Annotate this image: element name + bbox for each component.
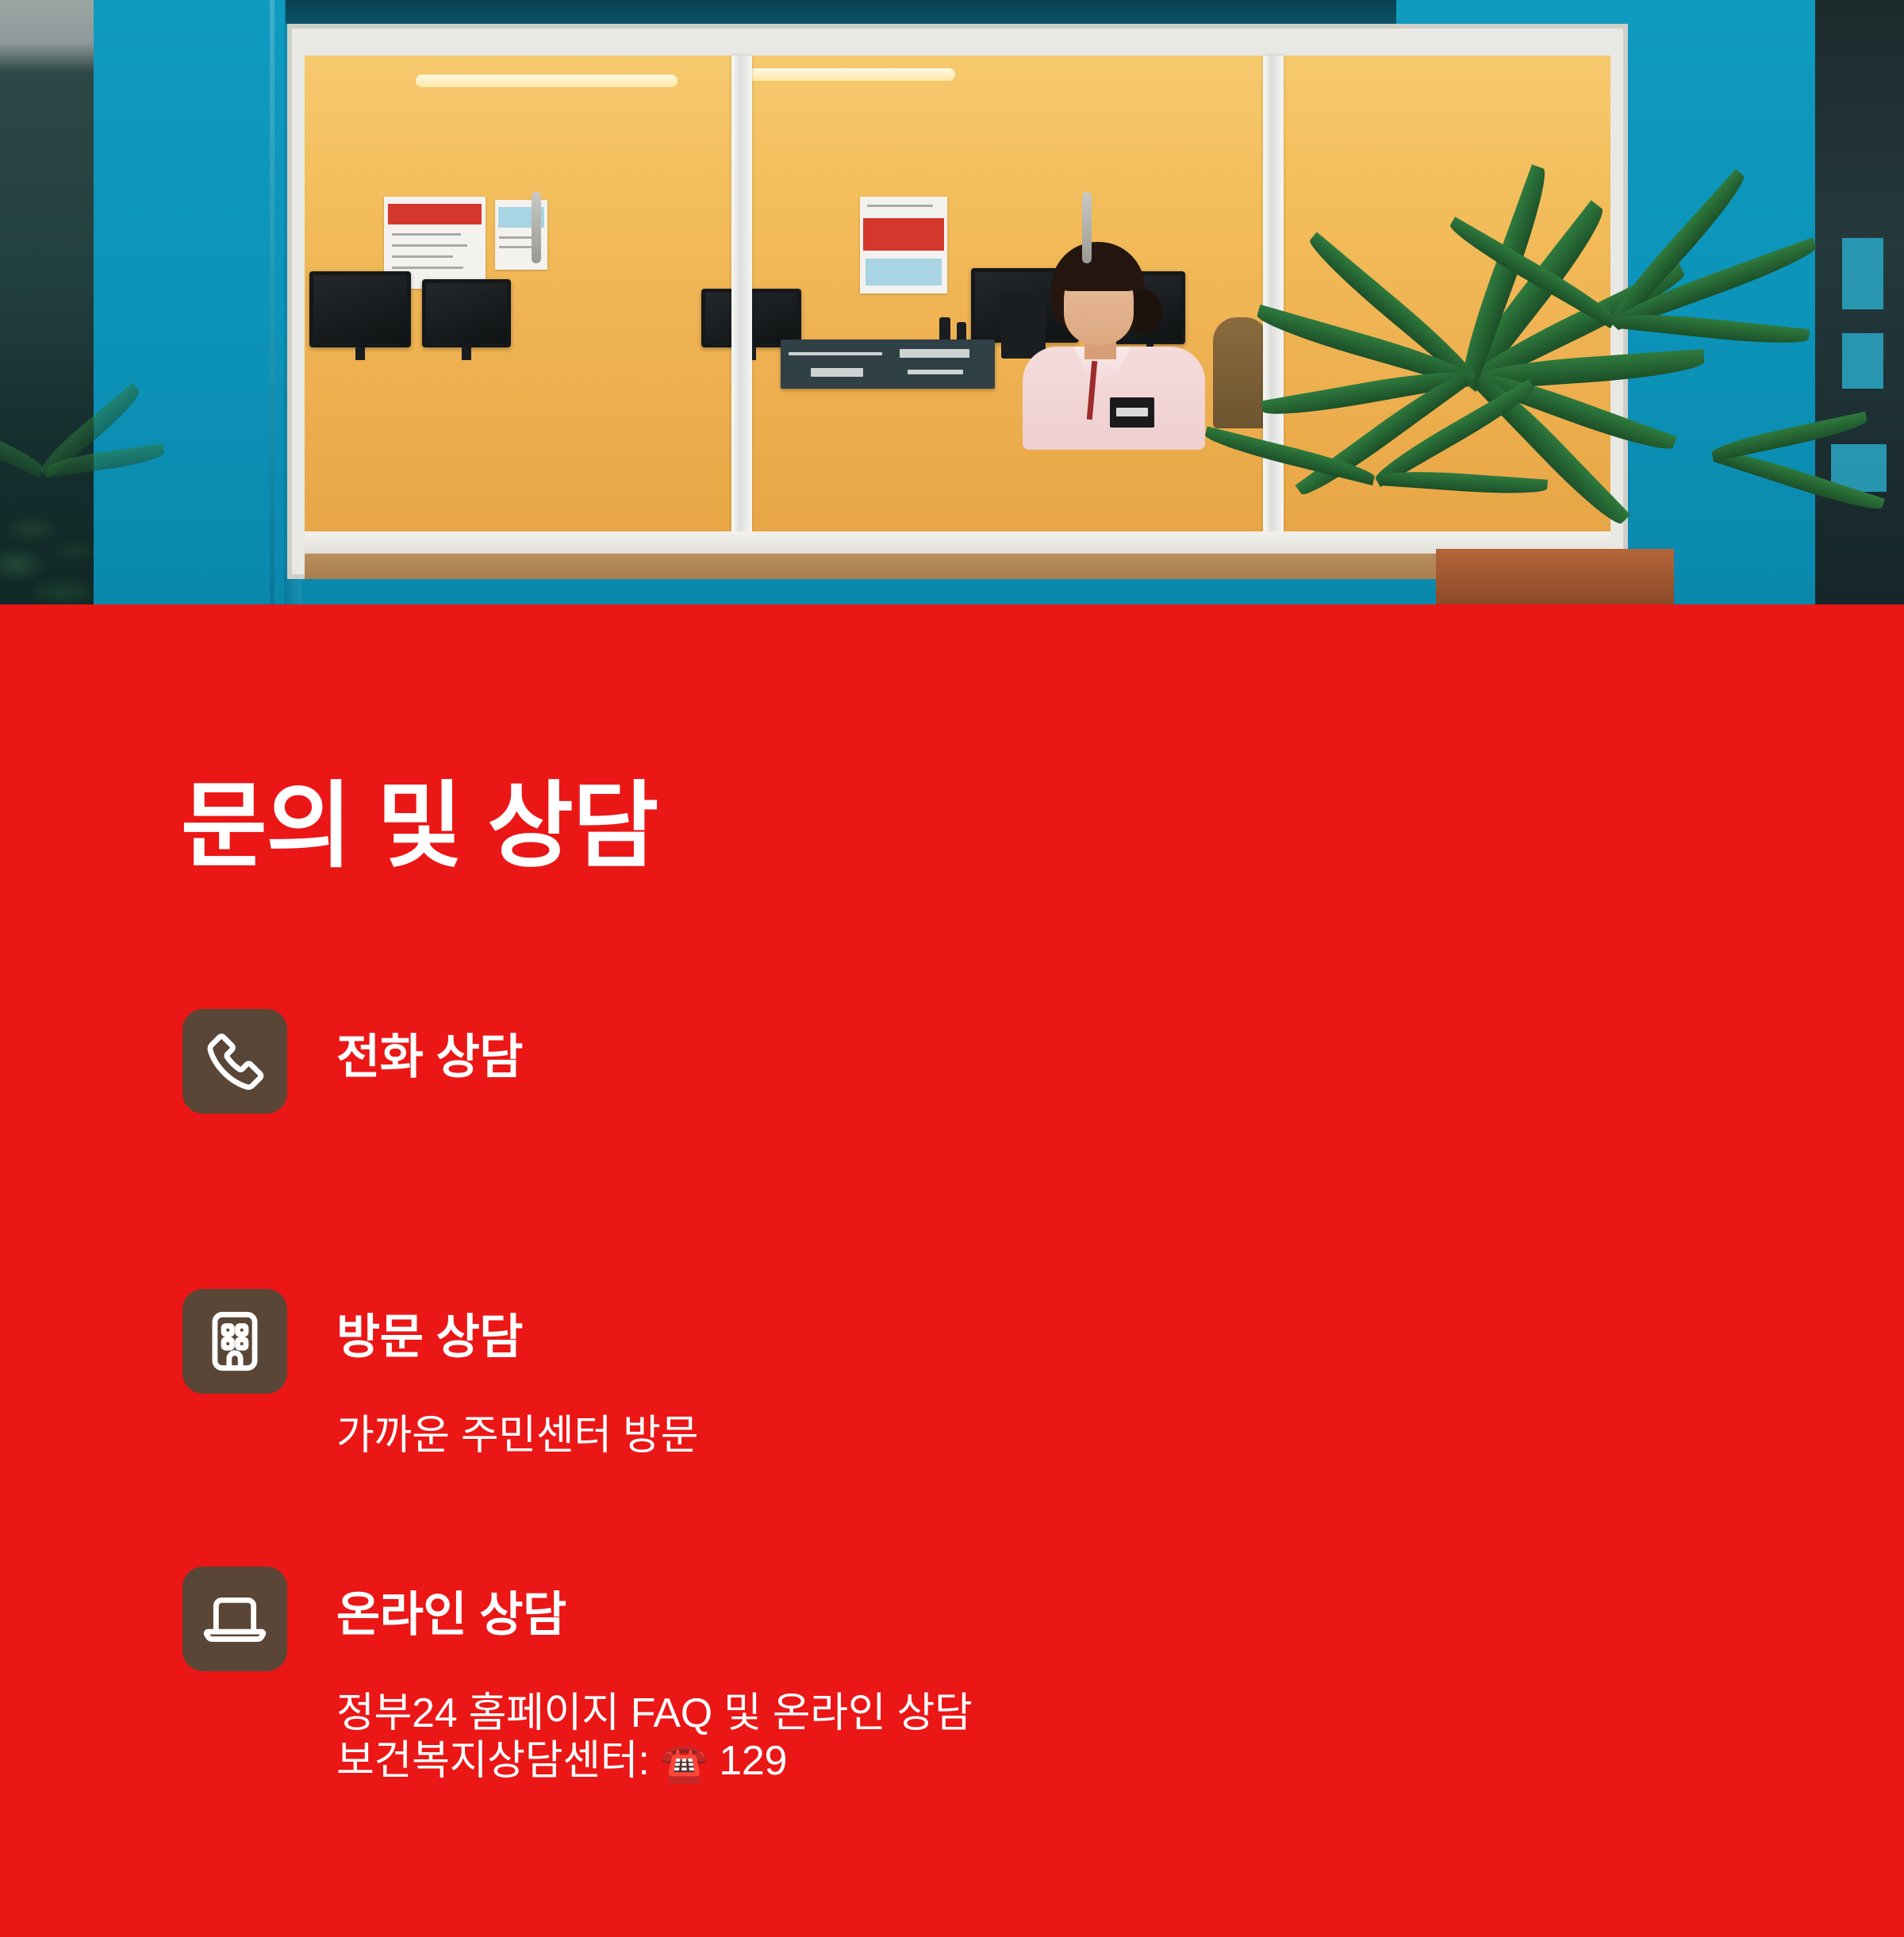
laptop-icon bbox=[182, 1567, 287, 1671]
photo-poster bbox=[860, 197, 947, 293]
contact-item-title: 전화 상담 bbox=[336, 1018, 523, 1087]
photo-counter-sign bbox=[781, 339, 995, 389]
photo-monitor bbox=[422, 279, 511, 347]
photo-monitor bbox=[309, 271, 411, 347]
photo-palm-plant bbox=[1238, 127, 1841, 604]
photo-staff-member bbox=[1023, 242, 1205, 448]
photo-window-mullion bbox=[731, 56, 752, 531]
photo-window-handle bbox=[532, 192, 541, 263]
photo-window-handle bbox=[1082, 192, 1092, 263]
photo-ceiling-lamp bbox=[749, 68, 955, 81]
contact-section: 문의 및 상담 전화 상담 보건복지상담센터: ☎️ 129 bbox=[0, 604, 1904, 1937]
photo-ceiling-lamp bbox=[416, 75, 678, 87]
contact-item-subtitle: 가까운 주민센터 방문 bbox=[336, 1402, 698, 1461]
hero-photo bbox=[0, 0, 1904, 604]
page-title: 문의 및 상담 bbox=[181, 773, 658, 881]
contact-item-subtitle: 정부24 홈페이지 FAQ 및 온라인 상담 bbox=[336, 1679, 973, 1739]
subtitle-prefix: 보건복지상담센터: bbox=[336, 1738, 649, 1784]
contact-item-title: 방문 상담 bbox=[336, 1298, 523, 1367]
building-icon bbox=[182, 1289, 287, 1394]
photo-facade-seam bbox=[270, 0, 274, 604]
subtitle-number: 129 bbox=[719, 1738, 787, 1784]
contact-item-title: 온라인 상담 bbox=[336, 1576, 566, 1645]
telephone-emoji: ☎️ bbox=[661, 1743, 708, 1785]
phone-icon bbox=[182, 1009, 287, 1114]
photo-lintel bbox=[286, 0, 1396, 24]
photo-plant-left bbox=[0, 341, 159, 604]
